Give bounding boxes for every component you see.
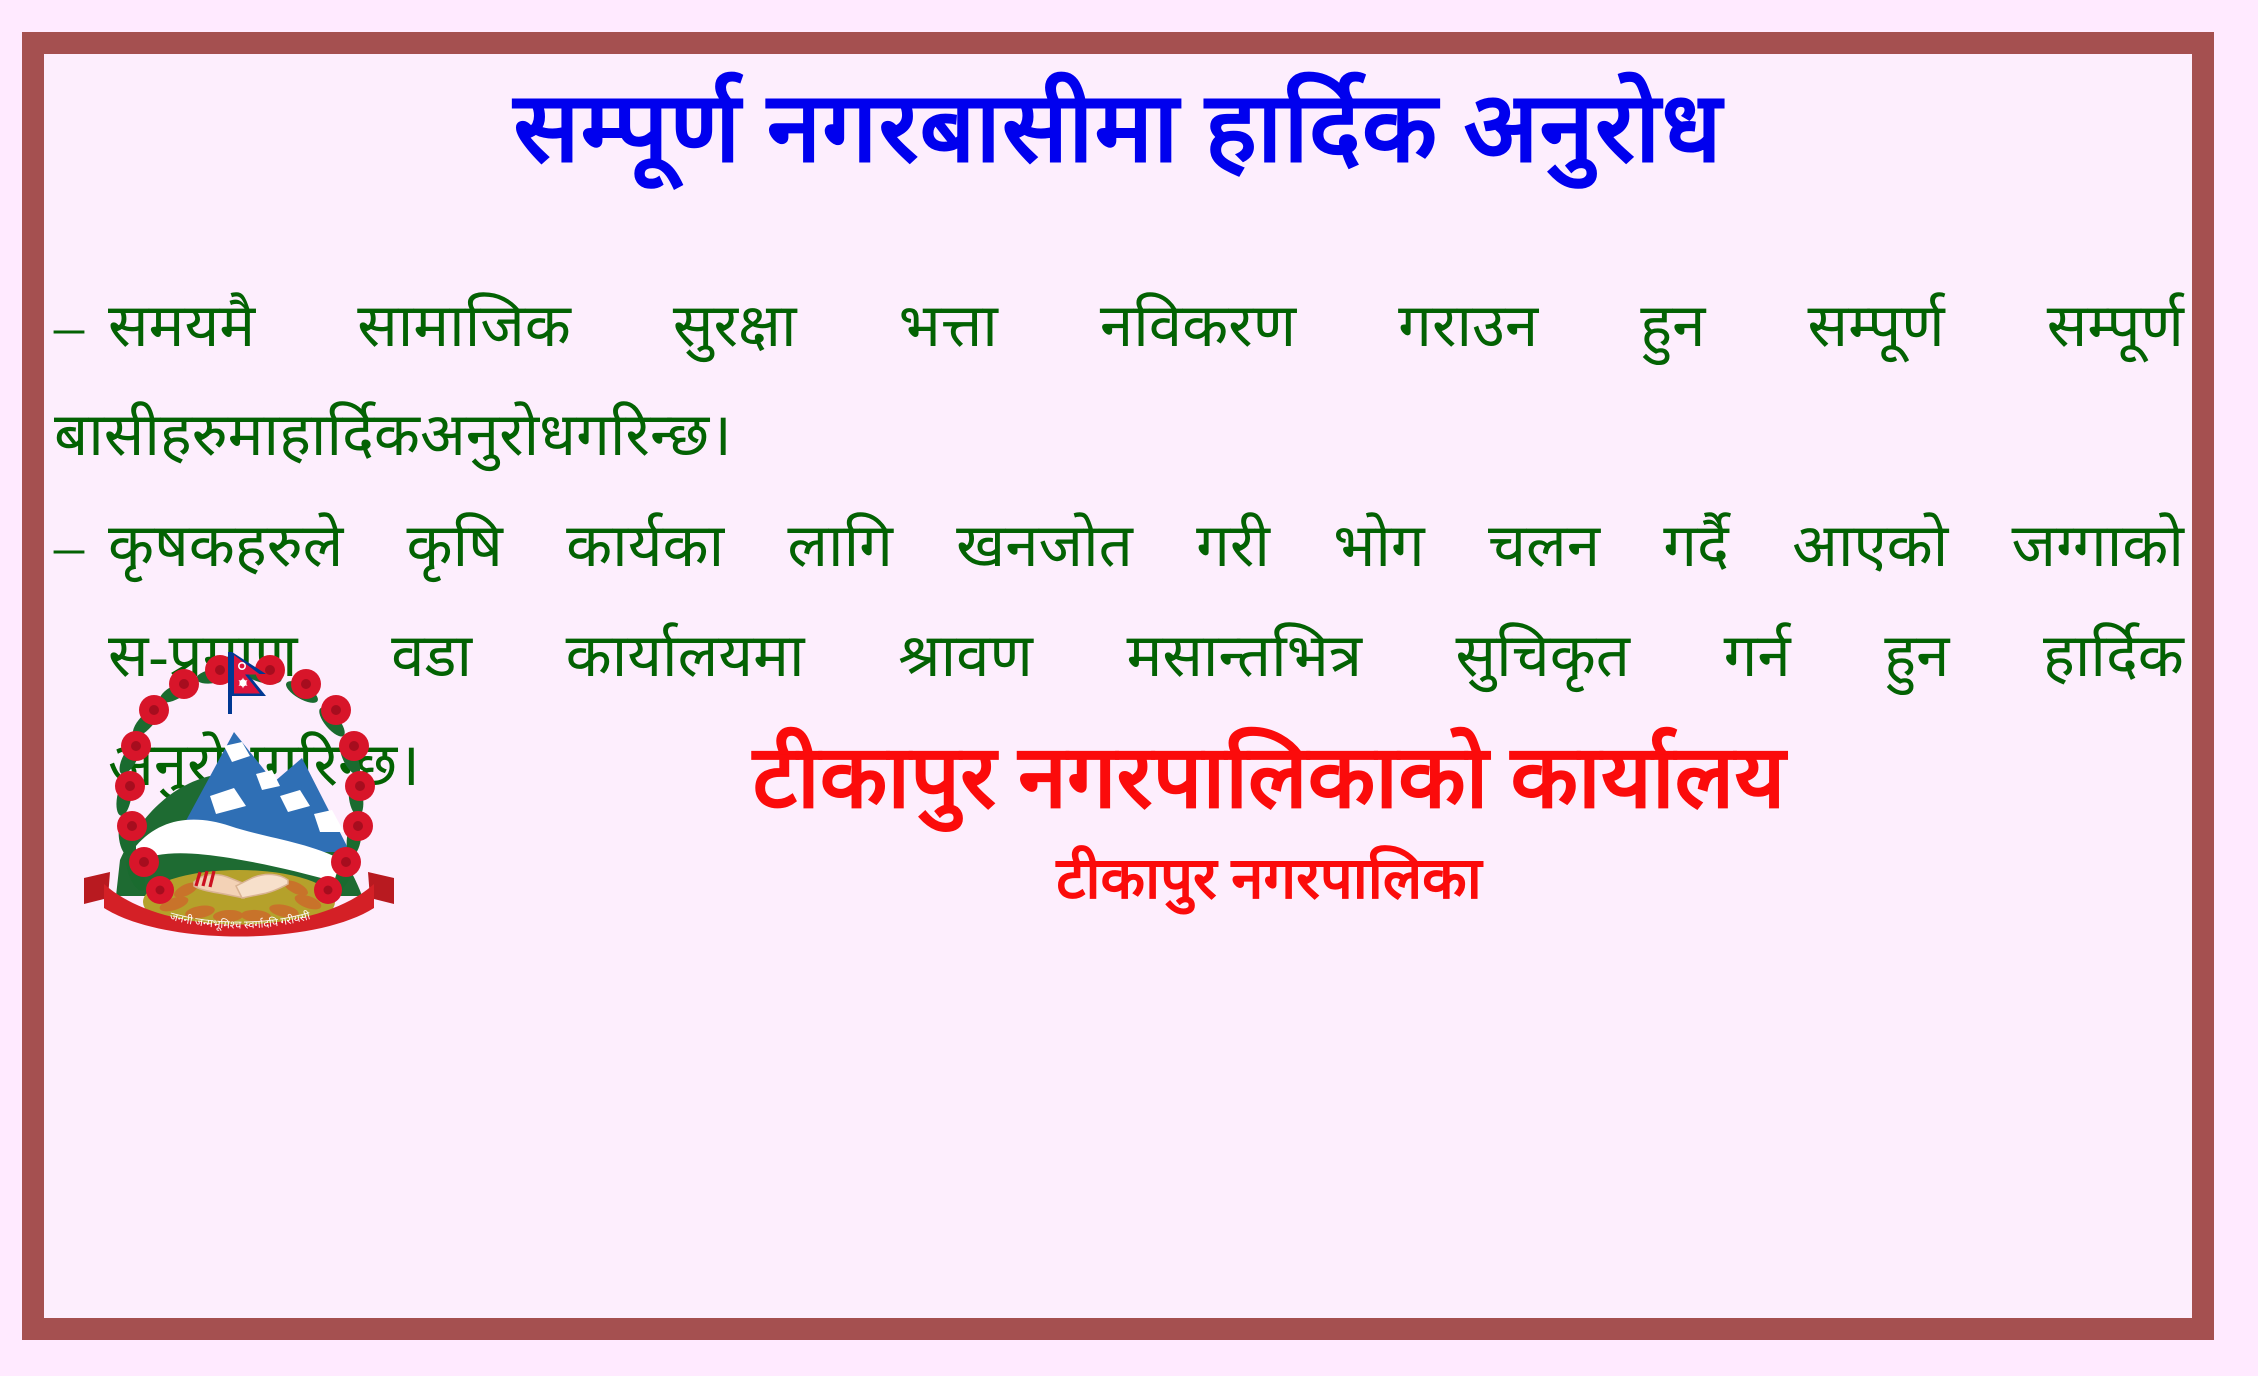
word: । [709, 381, 732, 490]
word: नविकरण [1100, 272, 1296, 381]
line-words: कृषकहरुले कृषि कार्यका लागि खनजोत गरी भो… [108, 492, 2184, 601]
word: भत्ता [899, 272, 998, 381]
word: सुरक्षा [673, 272, 797, 381]
word: सुचिकृत [1456, 602, 1630, 711]
paragraph-line: – समयमै सामाजिक सुरक्षा भत्ता नविकरण गरा… [54, 272, 2184, 381]
page-title: सम्पूर्ण नगरबासीमा हार्दिक अनुरोध [44, 72, 2192, 188]
word: हार्दिक [2043, 602, 2184, 711]
word: गराउन [1398, 272, 1538, 381]
line-words: समयमै सामाजिक सुरक्षा भत्ता नविकरण गराउन… [108, 272, 2184, 381]
office-name: टीकापुर नगरपालिकाको कार्यालय [374, 726, 2164, 832]
word: हार्दिक [279, 381, 420, 490]
word: समयमै [108, 272, 255, 381]
nepal-emblem: जननी जन्मभूमिश्च स्वर्गादपि गरीयसी [74, 646, 404, 946]
word: आएको [1792, 492, 1948, 601]
word: गरिन्छ [576, 381, 709, 490]
poster-frame: सम्पूर्ण नगरबासीमा हार्दिक अनुरोध – समयम… [22, 32, 2214, 1340]
word: अनुरोध [420, 381, 576, 490]
word: चलन [1488, 492, 1600, 601]
word: श्रावण [898, 602, 1033, 711]
word: गर्दै [1663, 492, 1729, 601]
poster-content: सम्पूर्ण नगरबासीमा हार्दिक अनुरोध – समयम… [44, 54, 2192, 1318]
word: जग्गाको [2012, 492, 2184, 601]
municipality-name: टीकापुर नगरपालिका [374, 844, 2164, 914]
word: भोग [1333, 492, 1425, 601]
bullet-dash: – [54, 272, 108, 381]
word: हुन [1884, 602, 1949, 711]
word: कृषकहरुले [108, 492, 343, 601]
line-words: स-प्रमाण वडा कार्यालयमा श्रावण मसान्तभित… [108, 602, 2184, 711]
paragraph-line: – कृषकहरुले कृषि कार्यका लागि खनजोत गरी … [54, 492, 2184, 601]
word: मसान्तभित्र [1126, 602, 1362, 711]
notice-poster: सम्पूर्ण नगरबासीमा हार्दिक अनुरोध – समयम… [0, 0, 2258, 1376]
bullet-dash: – [54, 492, 108, 601]
line-words: बासीहरुमा हार्दिक अनुरोध गरिन्छ । [54, 381, 2184, 490]
word: गर्न [1724, 602, 1791, 711]
word: हुन [1640, 272, 1705, 381]
word: सामाजिक [357, 272, 571, 381]
word: बासीहरुमा [54, 381, 279, 490]
word: कार्यालयमा [566, 602, 805, 711]
paragraph-line: बासीहरुमा हार्दिक अनुरोध गरिन्छ । [54, 381, 2184, 490]
nepal-coat-of-arms-icon: जननी जन्मभूमिश्च स्वर्गादपि गरीयसी [74, 646, 404, 946]
word: गरी [1196, 492, 1270, 601]
word: कार्यका [566, 492, 724, 601]
word: सम्पूर्ण [2047, 272, 2184, 381]
word: लागि [787, 492, 893, 601]
notice-paragraph: – समयमै सामाजिक सुरक्षा भत्ता नविकरण गरा… [54, 272, 2184, 490]
word: सम्पूर्ण [1808, 272, 1945, 381]
word: खनजोत [956, 492, 1133, 601]
word: कृषि [407, 492, 503, 601]
